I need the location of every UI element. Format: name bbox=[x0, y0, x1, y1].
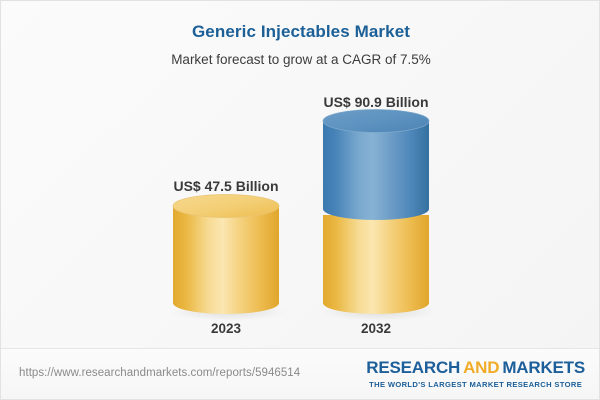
report-url-link[interactable]: https://www.researchandmarkets.com/repor… bbox=[19, 367, 300, 379]
logo-tagline: THE WORLD'S LARGEST MARKET RESEARCH STOR… bbox=[366, 379, 585, 390]
bar-cylinder-2032 bbox=[296, 1, 456, 331]
chart-card: Generic Injectables Market Market foreca… bbox=[0, 0, 600, 400]
bar-cylinder-2023 bbox=[146, 1, 306, 331]
chart-footer: https://www.researchandmarkets.com/repor… bbox=[1, 349, 600, 400]
research-and-markets-logo[interactable]: RESEARCHANDMARKETS THE WORLD'S LARGEST M… bbox=[366, 358, 585, 390]
bar-category-label-2023: 2023 bbox=[146, 321, 306, 336]
logo-word-markets: MARKETS bbox=[502, 358, 585, 377]
chart-plot-area: US$ 47.5 Billion bbox=[1, 1, 600, 348]
bar-category-label-2032: 2032 bbox=[296, 321, 456, 336]
logo-word-and: AND bbox=[463, 358, 499, 377]
logo-word-research: RESEARCH bbox=[366, 358, 460, 377]
logo-wordmark: RESEARCHANDMARKETS bbox=[366, 358, 585, 377]
